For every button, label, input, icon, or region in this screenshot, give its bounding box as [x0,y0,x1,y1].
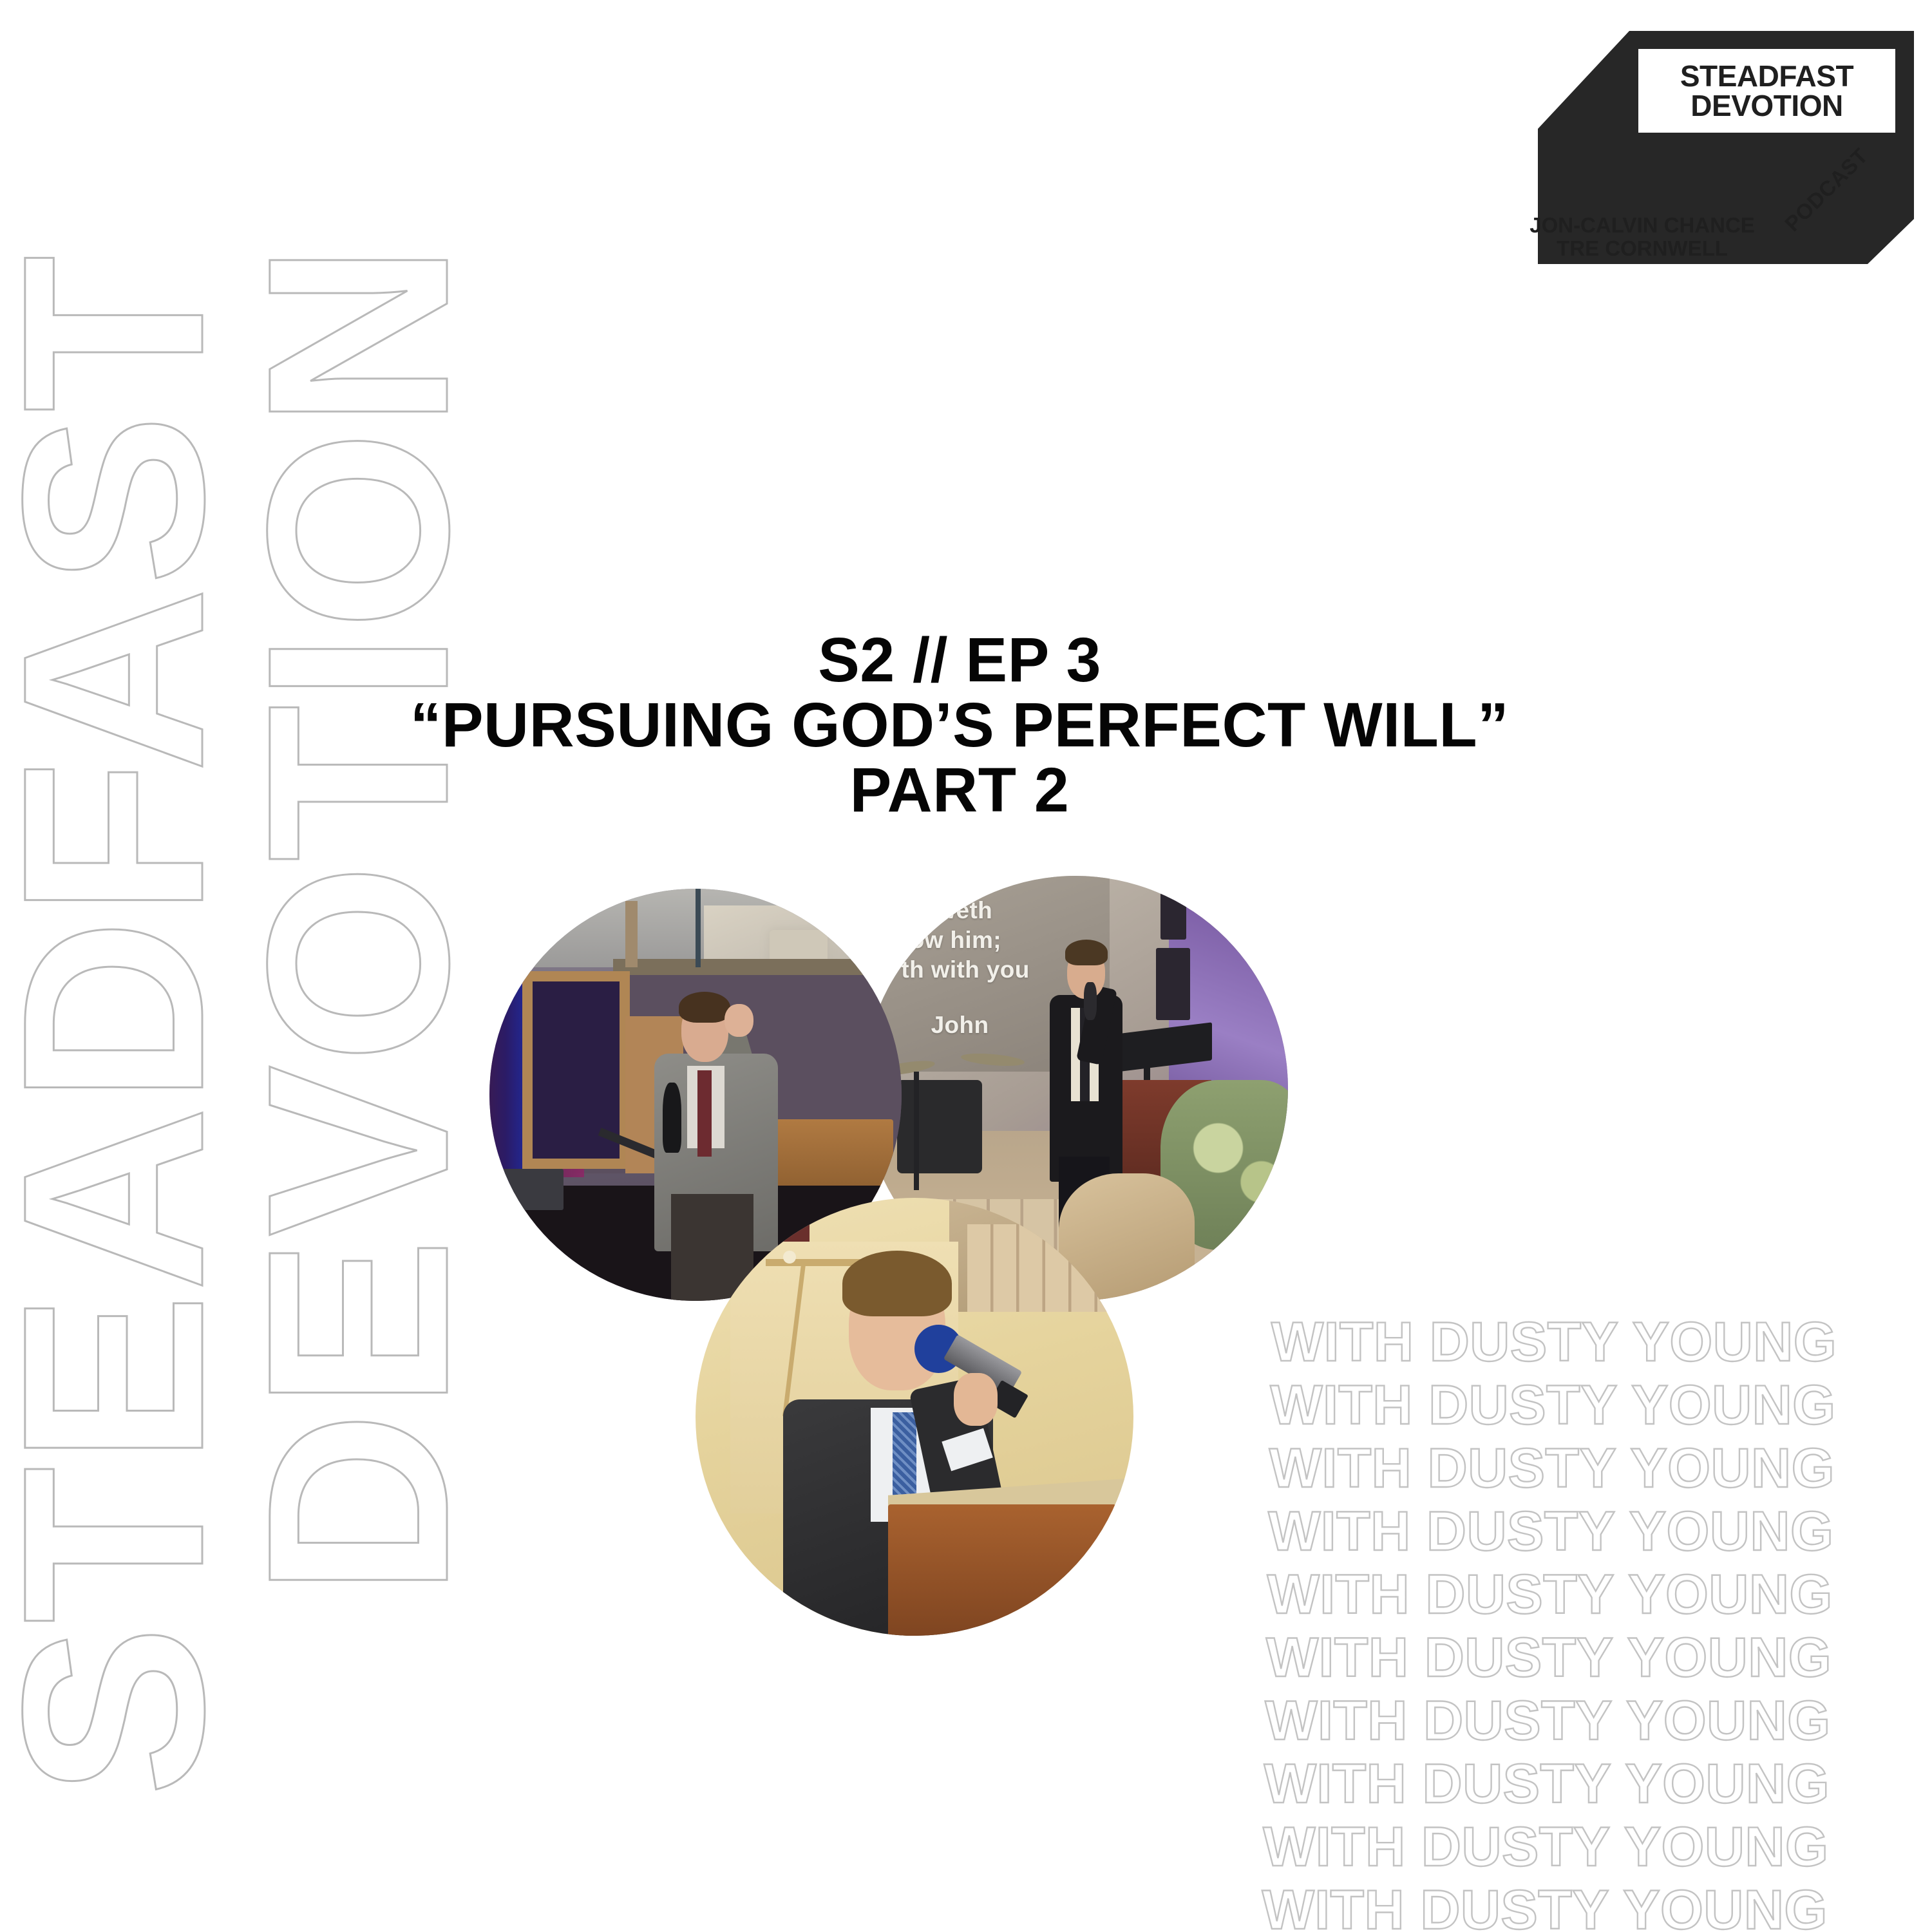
logo-name-line-1: STEADFAST [1680,61,1853,91]
projected-scripture-reference: John [931,1012,989,1039]
guest-credit-line: WITH DUSTY YOUNG [1271,1311,1932,1374]
projected-scripture-line-3: th with you [901,956,1029,983]
logo-name-line-2: DEVOTION [1690,91,1843,120]
guest-credit-line: WITH DUSTY YOUNG [1262,1879,1932,1932]
podcast-logo: STEADFAST DEVOTION PODCAST JON-CALVIN CH… [1533,26,1919,335]
photo-cluster: oweth ow him; th with you John [489,876,1327,1752]
guest-credit-line: WITH DUSTY YOUNG [1267,1563,1932,1626]
guest-credit-line: WITH DUSTY YOUNG [1265,1689,1932,1752]
host-name-1: JON-CALVIN CHANCE [1443,214,1842,237]
logo-host-credits: JON-CALVIN CHANCE TRE CORNWELL [1443,214,1842,260]
photo-circle-bottom [696,1198,1133,1636]
season-episode-label: S2 // EP 3 [361,628,1558,693]
episode-title-text: “PURSUING GOD’S PERFECT WILL” PART 2 [361,693,1558,823]
guest-credit-line: WITH DUSTY YOUNG [1269,1437,1932,1500]
vertical-wordmark-steadfast: STEADFAST [13,254,214,1797]
guest-credit-stack: WITH DUSTY YOUNGWITH DUSTY YOUNGWITH DUS… [1262,1311,1932,1932]
podcast-cover-art: STEADFAST DEVOTION STEADFAST DEVOTION PO… [0,0,1932,1932]
logo-name-block: STEADFAST DEVOTION [1642,53,1891,129]
projected-scripture-line-2: ow him; [910,927,1001,954]
projected-scripture-line-1: oweth [922,897,992,924]
vertical-wordmark-devotion: DEVOTION [258,241,459,1597]
guest-credit-line: WITH DUSTY YOUNG [1263,1815,1932,1879]
guest-credit-line: WITH DUSTY YOUNG [1268,1500,1932,1563]
guest-credit-line: WITH DUSTY YOUNG [1266,1626,1932,1689]
guest-credit-line: WITH DUSTY YOUNG [1270,1374,1932,1437]
photo-bottom-scene [696,1198,1133,1636]
host-name-2: TRE CORNWELL [1443,237,1842,260]
episode-title-block: S2 // EP 3 “PURSUING GOD’S PERFECT WILL”… [361,628,1558,823]
guest-credit-line: WITH DUSTY YOUNG [1264,1752,1932,1815]
